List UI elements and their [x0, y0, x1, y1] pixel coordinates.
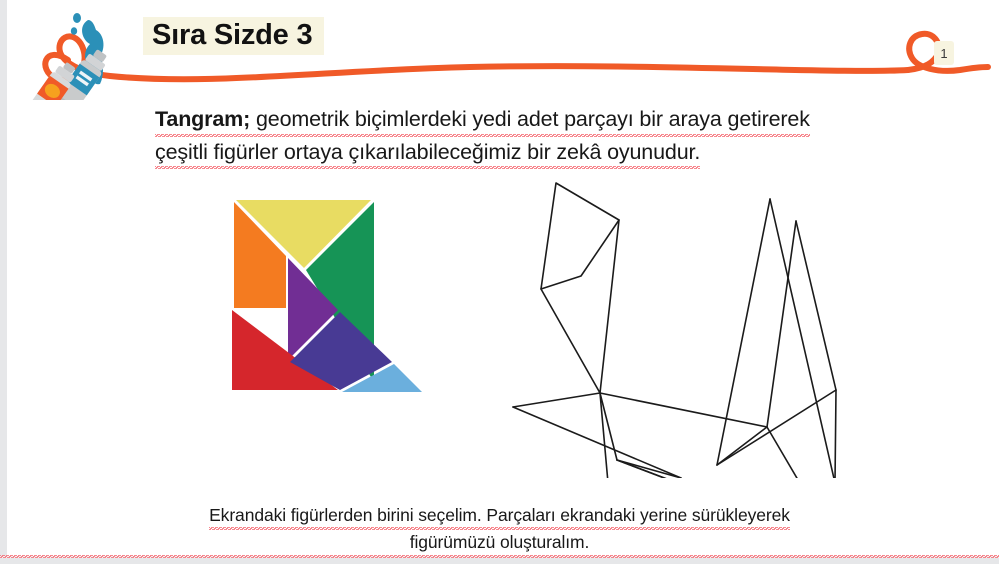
body-lead-word: Tangram;: [155, 107, 250, 131]
figure-edge-head-right: [835, 390, 836, 478]
figure-edge-foot-rear: [617, 460, 681, 478]
footer-instruction: Ekrandaki figürlerden birini seçelim. Pa…: [0, 503, 999, 558]
figure-edge-head-diag: [717, 390, 836, 465]
figure-edge-tail-to-hip: [600, 220, 619, 393]
body-paragraph: Tangram; geometrik biçimlerdeki yedi ade…: [155, 104, 925, 169]
page-number-badge: 1: [934, 41, 954, 65]
tangram-figure-outline[interactable]: [505, 178, 865, 478]
figure-edge-tail: [541, 183, 619, 289]
figure-edge-foreleg: [767, 427, 835, 478]
tangram-pieces: [232, 200, 422, 392]
figure-edge-rear-lower: [513, 407, 681, 478]
body-line-2: çeşitli figürler ortaya çıkarılabileceği…: [155, 137, 700, 170]
figure-edge-tail-lower: [541, 289, 600, 393]
slide-title-box: Sıra Sizde 3: [143, 17, 324, 55]
footer-line-2: figürümüzü oluşturalım.: [0, 530, 999, 557]
figure-edge-head-lower-left: [717, 427, 767, 465]
figure-strokes: [513, 183, 836, 478]
page-title: Sıra Sizde 3: [152, 20, 312, 50]
figure-edge-back: [600, 393, 767, 427]
figure-edge-ear-left-short: [717, 199, 770, 465]
slide-canvas: Sıra Sizde 3 1 Tangram; geometrik biçiml…: [0, 0, 999, 564]
slide-header: Sıra Sizde 3 1: [0, 0, 999, 95]
tangram-square-image[interactable]: [228, 196, 428, 398]
body-line-1-rest: geometrik biçimlerdeki yedi adet parçayı…: [250, 107, 810, 131]
figure-edge-rear-upper: [513, 393, 600, 407]
body-line-1: Tangram; geometrik biçimlerdeki yedi ade…: [155, 104, 810, 137]
slide-bottom-edge: [0, 558, 999, 564]
figure-edge-ear-right-up: [796, 221, 836, 390]
footer-line-1: Ekrandaki figürlerden birini seçelim. Pa…: [209, 503, 790, 530]
